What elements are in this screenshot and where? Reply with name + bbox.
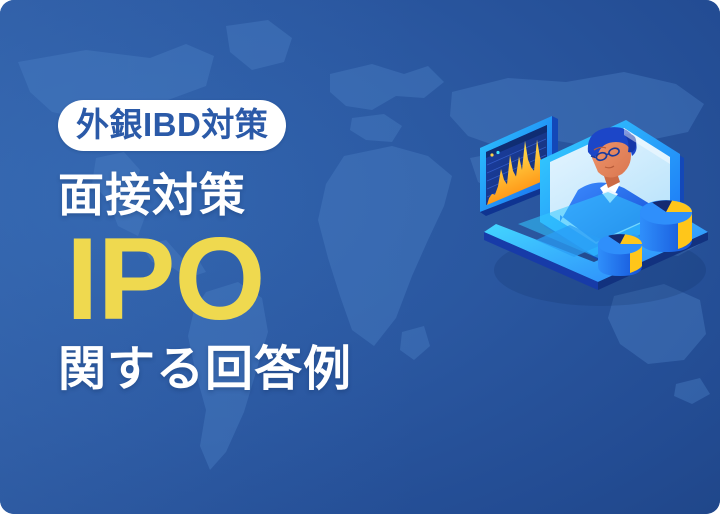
tagline-text: 関する回答例 (58, 346, 458, 394)
headline-block: 外銀IBD対策 面接対策 IPO 関する回答例 (58, 100, 458, 394)
pie-chart-small (598, 234, 642, 276)
subtitle-text: 面接対策 (58, 172, 458, 218)
category-badge: 外銀IBD対策 (58, 100, 286, 151)
pie-chart-large (640, 200, 692, 252)
laptop-video-call-illustration (474, 72, 714, 312)
headline-text: IPO (66, 232, 458, 326)
ipo-interview-banner: 外銀IBD対策 面接対策 IPO 関する回答例 (0, 0, 720, 514)
